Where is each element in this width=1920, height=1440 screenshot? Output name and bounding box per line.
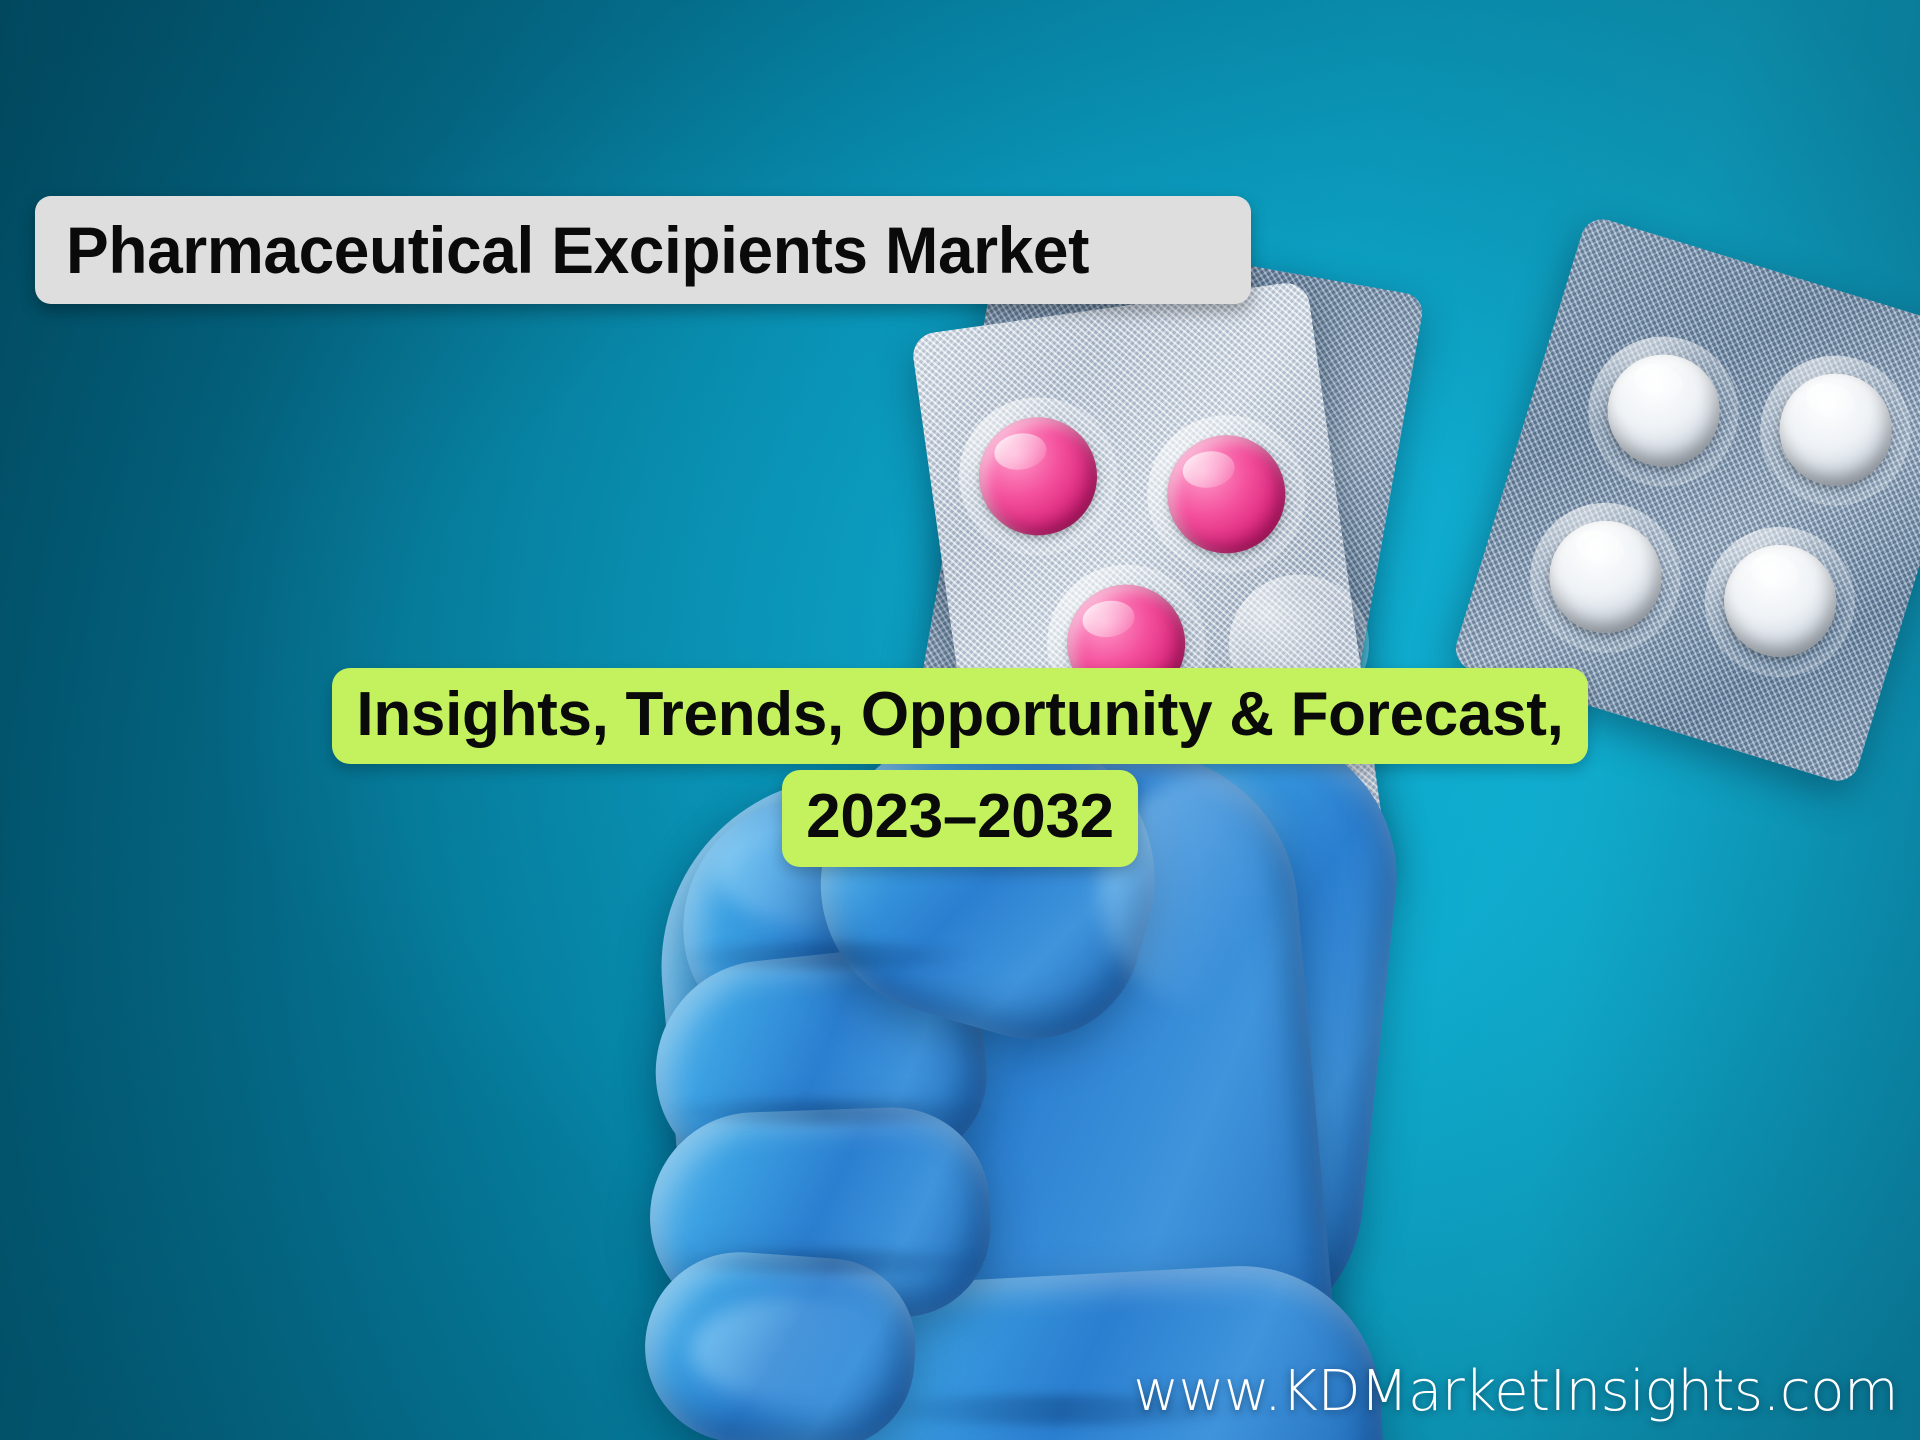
glove-crease xyxy=(670,1250,990,1274)
subtitle-line-2: 2023–2032 xyxy=(782,770,1138,866)
poster-canvas: Pharmaceutical Excipients Market Insight… xyxy=(0,0,1920,1440)
subtitle-block: Insights, Trends, Opportunity & Forecast… xyxy=(0,668,1920,867)
page-title: Pharmaceutical Excipients Market xyxy=(35,217,1089,283)
website-url[interactable]: www.KDMarketInsights.com xyxy=(1133,1359,1898,1424)
subtitle-line-1: Insights, Trends, Opportunity & Forecast… xyxy=(332,668,1587,764)
glove-highlight xyxy=(690,1295,920,1405)
title-banner: Pharmaceutical Excipients Market xyxy=(35,196,1251,304)
glove-crease xyxy=(665,1100,985,1124)
glove-crease xyxy=(680,943,980,969)
